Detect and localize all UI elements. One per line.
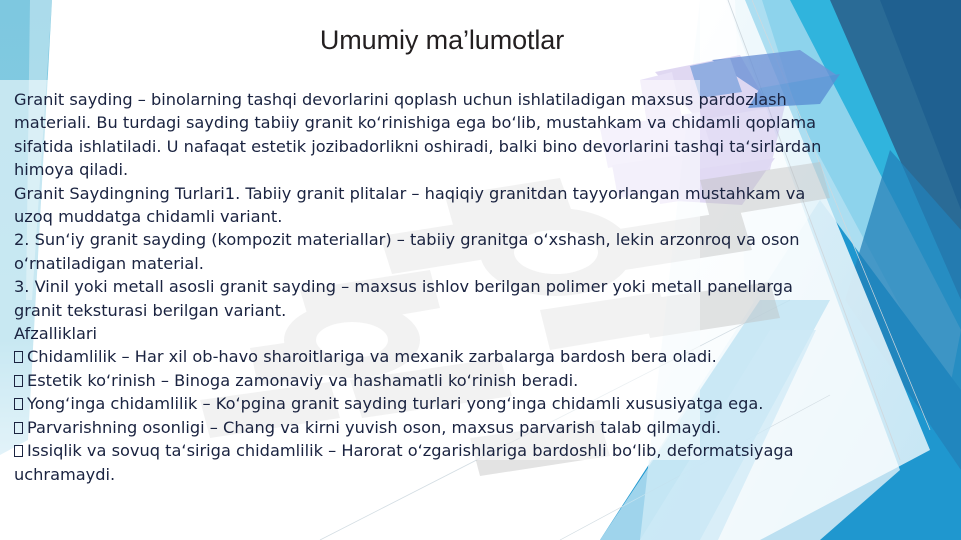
bullet-text: Issiqlik va sovuq ta‘siriga chidamlilik … <box>14 441 794 483</box>
paragraph-type-2: 2. Sun‘iy granit sayding (kompozit mater… <box>14 228 844 275</box>
bullet-marker-icon <box>14 375 23 387</box>
bullet-item-thermal-resistance: Issiqlik va sovuq ta‘siriga chidamlilik … <box>14 439 844 486</box>
bullet-text: Estetik ko‘rinish – Binoga zamonaviy va … <box>27 371 578 390</box>
slide-content: Umumiy ma’lumotlar Granit sayding – bino… <box>0 0 961 540</box>
paragraph-type-3: 3. Vinil yoki metall asosli granit saydi… <box>14 275 844 322</box>
bullet-item-durability: Chidamlilik – Har xil ob-havo sharoitlar… <box>14 345 844 368</box>
bullet-text: Chidamlilik – Har xil ob-havo sharoitlar… <box>27 347 717 366</box>
bullet-item-aesthetics: Estetik ko‘rinish – Binoga zamonaviy va … <box>14 369 844 392</box>
body-text-block: Granit sayding – binolarning tashqi devo… <box>14 88 844 486</box>
bullet-text: Parvarishning osonligi – Chang va kirni … <box>27 418 721 437</box>
paragraph-intro: Granit sayding – binolarning tashqi devo… <box>14 88 844 182</box>
paragraph-advantages-heading: Afzalliklari <box>14 322 844 345</box>
bullet-text: Yong‘inga chidamlilik – Ko‘pgina granit … <box>27 394 763 413</box>
bullet-item-fire-resistance: Yong‘inga chidamlilik – Ko‘pgina granit … <box>14 392 844 415</box>
bullet-marker-icon <box>14 445 23 457</box>
bullet-marker-icon <box>14 351 23 363</box>
bullet-item-easy-care: Parvarishning osonligi – Chang va kirni … <box>14 416 844 439</box>
paragraph-types-intro: Granit Saydingning Turlari1. Tabiiy gran… <box>14 182 844 229</box>
slide-canvas: Umumiy ma’lumotlar Granit sayding – bino… <box>0 0 961 540</box>
page-title: Umumiy ma’lumotlar <box>0 24 884 56</box>
bullet-marker-icon <box>14 398 23 410</box>
bullet-marker-icon <box>14 422 23 434</box>
